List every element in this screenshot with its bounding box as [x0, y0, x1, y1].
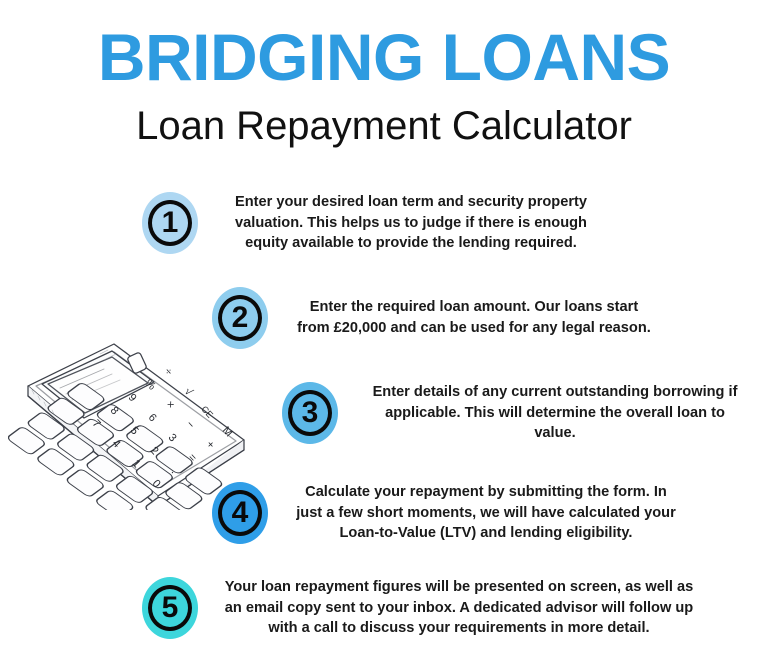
page-subtitle: Loan Repayment Calculator	[0, 90, 768, 146]
step-text-5: Your loan repayment figures will be pres…	[224, 577, 694, 639]
step-row-4: 4 Calculate your repayment by submitting…	[212, 482, 678, 544]
step-badge-1: 1	[142, 192, 198, 254]
step-text-1: Enter your desired loan term and securit…	[224, 192, 598, 254]
page-title: BRIDGING LOANS	[0, 0, 768, 90]
header: BRIDGING LOANS Loan Repayment Calculator	[0, 0, 768, 146]
step-badge-3: 3	[282, 382, 338, 444]
step-row-5: 5 Your loan repayment figures will be pr…	[142, 577, 694, 639]
infographic-page: BRIDGING LOANS Loan Repayment Calculator	[0, 0, 768, 670]
step-badge-5: 5	[142, 577, 198, 639]
step-row-3: 3 Enter details of any current outstandi…	[282, 382, 746, 444]
step-text-4: Calculate your repayment by submitting t…	[294, 482, 678, 544]
step-number-1: 1	[162, 208, 179, 238]
step-row-2: 2 Enter the required loan amount. Our lo…	[212, 287, 654, 349]
step-text-3: Enter details of any current outstanding…	[364, 382, 746, 444]
step-number-5: 5	[162, 593, 179, 623]
step-text-2: Enter the required loan amount. Our loan…	[294, 297, 654, 338]
step-badge-2: 2	[212, 287, 268, 349]
svg-text:÷: ÷	[162, 366, 175, 379]
step-badge-4: 4	[212, 482, 268, 544]
step-number-4: 4	[232, 498, 249, 528]
step-row-1: 1 Enter your desired loan term and secur…	[142, 192, 598, 254]
step-number-3: 3	[302, 398, 319, 428]
step-number-2: 2	[232, 303, 249, 333]
